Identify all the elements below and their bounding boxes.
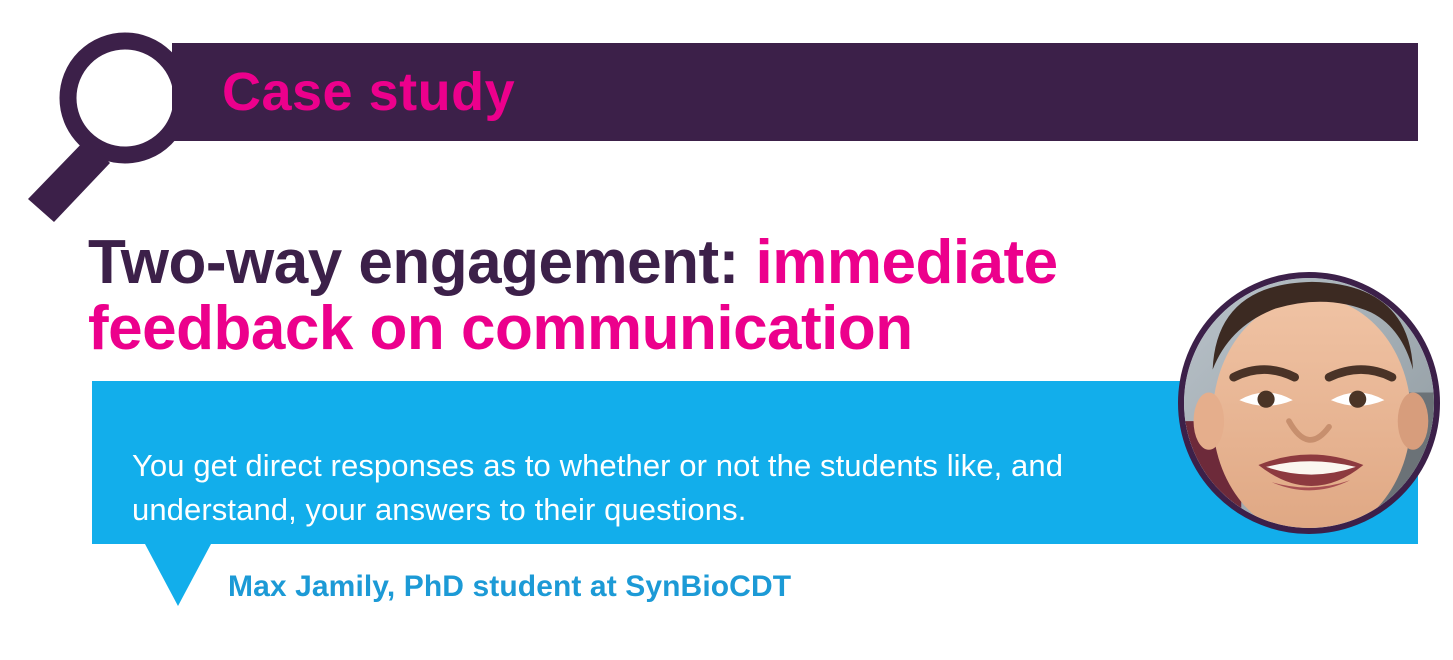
page-title: Two-way engagement: immediate feedback o… bbox=[88, 230, 1378, 363]
case-study-label: Case study bbox=[222, 65, 515, 119]
headline-part-dark: Two-way engagement: bbox=[88, 228, 739, 297]
quote-tail-pointer bbox=[145, 544, 211, 606]
avatar-photo bbox=[1184, 278, 1434, 528]
case-study-banner: Case study bbox=[172, 43, 1418, 141]
quote-text: You get direct responses as to whether o… bbox=[132, 444, 1202, 532]
headline-part-pink-2: feedback on communication bbox=[88, 294, 913, 363]
quote-attribution: Max Jamily, PhD student at SynBioCDT bbox=[228, 570, 791, 604]
avatar bbox=[1178, 272, 1440, 534]
headline-part-pink-1: immediate bbox=[739, 228, 1058, 297]
